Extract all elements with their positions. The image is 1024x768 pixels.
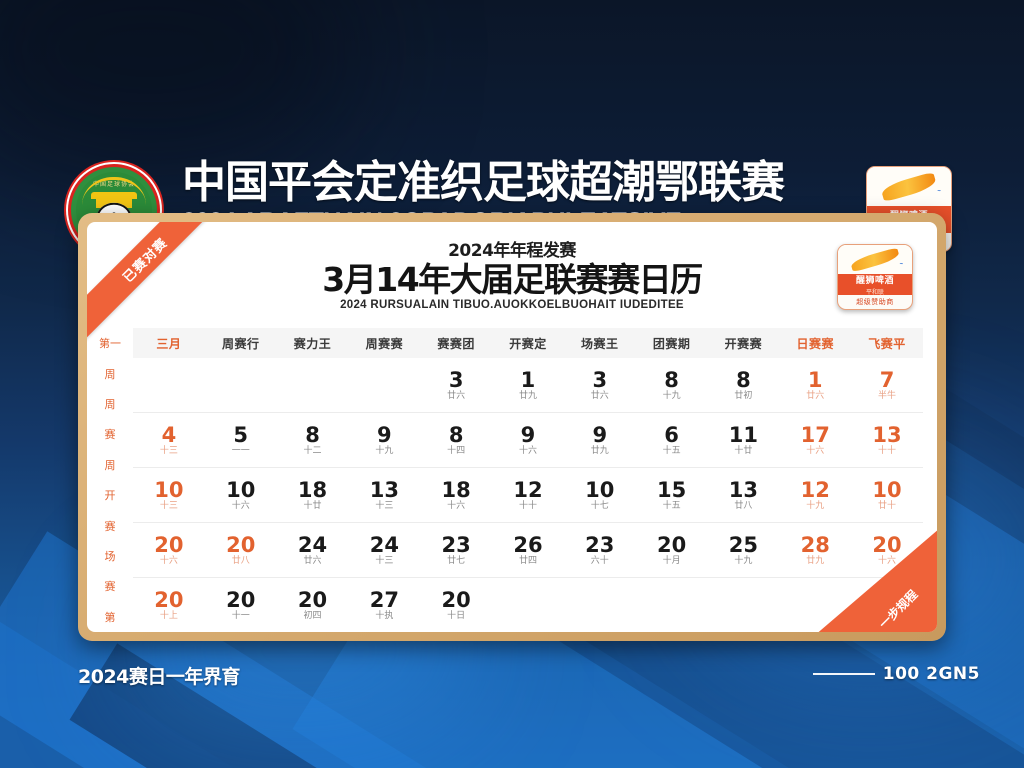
- calendar-day-cell[interactable]: 24廿六: [277, 535, 349, 566]
- day-number: 20: [154, 535, 183, 556]
- calendar-day-cell[interactable]: 5一一: [205, 425, 277, 456]
- row-label-column: 第一周周赛周开赛场赛第: [87, 328, 133, 632]
- day-number: 12: [801, 480, 830, 501]
- day-number: 10: [226, 480, 255, 501]
- row-label-7: 场: [105, 541, 116, 571]
- day-number: 1: [521, 370, 536, 391]
- pavilion-roof: [91, 192, 137, 199]
- lunar-label: 十廿: [304, 502, 322, 511]
- row-label-2: 周: [105, 389, 116, 419]
- lunar-label: 十九: [806, 502, 824, 511]
- calendar-day-cell[interactable]: 13十十: [851, 425, 923, 456]
- calendar-day-cell[interactable]: 10十三: [133, 480, 205, 511]
- lunar-label: 十六: [447, 502, 465, 511]
- ribbon-bottom-right: 一步规程: [809, 524, 937, 632]
- lunar-label: 十廿: [734, 447, 752, 456]
- day-number: 4: [162, 425, 177, 446]
- screenshot-root: 中国足球协会 CFU 中国平会定准织足球超潮鄂联赛 2024 ARAFTUAIN…: [0, 0, 1024, 768]
- day-number: 9: [377, 425, 392, 446]
- calendar-week-row: 20十上20十一20初四27十执20十日: [133, 577, 923, 632]
- weekday-header-10: 飞赛平: [851, 335, 923, 352]
- lunar-label: 廿初: [734, 392, 752, 401]
- lunar-label: 十六: [160, 557, 178, 566]
- lunar-label: 十五: [663, 502, 681, 511]
- footer-right: 100 2GN5: [813, 664, 980, 684]
- badge-blue-mark-card: ~: [900, 262, 904, 268]
- day-number: 20: [298, 590, 327, 611]
- lunar-label: 十十: [519, 502, 537, 511]
- day-number: 8: [305, 425, 320, 446]
- row-label-9: 第: [105, 602, 116, 632]
- lunar-label: 廿四: [519, 557, 537, 566]
- day-number: 20: [657, 535, 686, 556]
- calendar-day-cell[interactable]: 20十月: [636, 535, 708, 566]
- calendar-title-en: 2024 RURSUALAIN TIBUO.AUOKKOELBUOHAIT IU…: [87, 299, 937, 311]
- day-number: 18: [298, 480, 327, 501]
- lunar-label: 十三: [160, 502, 178, 511]
- day-number: 17: [801, 425, 830, 446]
- calendar-day-cell[interactable]: 25十九: [708, 535, 780, 566]
- calendar-day-cell[interactable]: 20十六: [133, 535, 205, 566]
- calendar-day-cell[interactable]: 15十五: [636, 480, 708, 511]
- row-label-6: 赛: [105, 510, 116, 540]
- calendar-day-cell[interactable]: 18十六: [420, 480, 492, 511]
- day-number: 6: [664, 425, 679, 446]
- weeks-container: 3廿六1廿九3廿六8十九8廿初1廿六7半牛4十三5一一8十二9十九8十四9十六9…: [133, 358, 923, 632]
- calendar-day-cell[interactable]: 8十二: [277, 425, 349, 456]
- row-label-3: 赛: [105, 419, 116, 449]
- day-number: 25: [729, 535, 758, 556]
- lunar-label: 十上: [160, 612, 178, 621]
- calendar-week-row: 10十三10十六18十廿13十三18十六12十十10十七15十五13廿八12十九…: [133, 467, 923, 522]
- lunar-label: 十执: [375, 612, 393, 621]
- day-number: 23: [585, 535, 614, 556]
- lunar-label: 十月: [663, 557, 681, 566]
- lunar-label: 十日: [447, 612, 465, 621]
- day-number: 13: [872, 425, 901, 446]
- lunar-label: 十六: [806, 447, 824, 456]
- calendar-day-cell[interactable]: 7半牛: [851, 370, 923, 401]
- footer-rule: [813, 673, 875, 675]
- lunar-label: 廿七: [447, 557, 465, 566]
- calendar-day-cell[interactable]: 23廿七: [420, 535, 492, 566]
- lunar-label: 十九: [663, 392, 681, 401]
- day-number: 15: [657, 480, 686, 501]
- day-number: 24: [370, 535, 399, 556]
- calendar-day-cell[interactable]: 20初四: [277, 590, 349, 621]
- calendar-week-row: 20十六20廿八24廿六24十三23廿七26廿四23六十20十月25十九28廿九…: [133, 522, 923, 577]
- lunar-label: 廿六: [591, 392, 609, 401]
- day-number: 1: [808, 370, 823, 391]
- badge-blue-mark: ~: [937, 189, 941, 195]
- weekday-header-0: 三月: [133, 335, 205, 352]
- calendar-day-cell[interactable]: 10廿十: [851, 480, 923, 511]
- calendar-day-cell[interactable]: 13廿八: [708, 480, 780, 511]
- calendar-day-cell[interactable]: 23六十: [564, 535, 636, 566]
- badge-band-card: 醒狮啤酒 平和联: [838, 274, 912, 294]
- lunar-label: 初四: [304, 612, 322, 621]
- day-number: 10: [154, 480, 183, 501]
- lunar-label: 十六: [519, 447, 537, 456]
- lunar-label: 廿八: [734, 502, 752, 511]
- calendar-day-cell[interactable]: 12十十: [492, 480, 564, 511]
- day-number: 27: [370, 590, 399, 611]
- lunar-label: 十一: [232, 612, 250, 621]
- calendar-day-cell[interactable]: 9十九: [348, 425, 420, 456]
- weekday-header-4: 赛赛团: [420, 335, 492, 352]
- calendar-day-cell[interactable]: 8十九: [636, 370, 708, 401]
- calendar-day-cell[interactable]: 18十廿: [277, 480, 349, 511]
- calendar-day-cell[interactable]: 24十三: [348, 535, 420, 566]
- calendar-day-cell[interactable]: 8十四: [420, 425, 492, 456]
- badge-graphic-card: ~: [838, 245, 912, 274]
- page-title: 中国平会定准织足球超潮鄂联赛: [182, 160, 842, 206]
- lunar-label: 廿六: [447, 392, 465, 401]
- day-number: 18: [442, 480, 471, 501]
- lunar-label: 十二: [304, 447, 322, 456]
- calendar-day-cell[interactable]: 26廿四: [492, 535, 564, 566]
- calendar-day-cell[interactable]: 20十上: [133, 590, 205, 621]
- calendar-day-cell[interactable]: 27十执: [348, 590, 420, 621]
- calendar-week-row: 4十三5一一8十二9十九8十四9十六9廿九6十五11十廿17十六13十十: [133, 412, 923, 467]
- lunar-label: 一一: [232, 447, 250, 456]
- calendar-title-small: 2024年年程发赛: [87, 236, 937, 261]
- day-number: 9: [521, 425, 536, 446]
- weekday-header-8: 开赛赛: [708, 335, 780, 352]
- calendar-day-cell[interactable]: 17十六: [779, 425, 851, 456]
- badge-graphic: ~: [867, 167, 951, 206]
- calendar-day-cell[interactable]: 9廿九: [564, 425, 636, 456]
- calendar-day-cell[interactable]: 4十三: [133, 425, 205, 456]
- day-number: 20: [226, 590, 255, 611]
- day-number: 8: [736, 370, 751, 391]
- weekday-header-2: 赛力王: [277, 335, 349, 352]
- calendar-day-cell[interactable]: 10十六: [205, 480, 277, 511]
- day-number: 20: [154, 590, 183, 611]
- lunar-label: 十六: [232, 502, 250, 511]
- day-number: 10: [872, 480, 901, 501]
- wheat-icon: [880, 172, 938, 203]
- lunar-label: 廿六: [806, 392, 824, 401]
- lunar-label: 十三: [375, 502, 393, 511]
- row-label-8: 赛: [105, 571, 116, 601]
- sponsor-badge-card[interactable]: ~ 醒狮啤酒 平和联 超级赞助商: [837, 244, 913, 310]
- day-number: 7: [880, 370, 895, 391]
- lunar-label: 十三: [160, 447, 178, 456]
- footer-left-text: 2024赛日一年界育: [78, 662, 240, 689]
- lunar-label: 十九: [375, 447, 393, 456]
- row-label-0: 第一: [99, 328, 121, 358]
- lunar-label: 十九: [734, 557, 752, 566]
- day-number: 12: [513, 480, 542, 501]
- day-number: 20: [442, 590, 471, 611]
- day-number: 11: [729, 425, 758, 446]
- day-number: 9: [592, 425, 607, 446]
- lunar-label: 十七: [591, 502, 609, 511]
- calendar-week-row: 3廿六1廿九3廿六8十九8廿初1廿六7半牛: [133, 358, 923, 412]
- calendar-day-cell[interactable]: 11十廿: [708, 425, 780, 456]
- lunar-label: 廿六: [304, 557, 322, 566]
- badge-foot-card: 超级赞助商: [838, 295, 912, 309]
- day-number: 24: [298, 535, 327, 556]
- calendar-day-cell[interactable]: 12十九: [779, 480, 851, 511]
- calendar-day-cell[interactable]: 20十日: [420, 590, 492, 621]
- calendar-title-large: 3月14年大届足联赛赛日历: [87, 262, 937, 298]
- lunar-label: 六十: [591, 557, 609, 566]
- calendar-day-cell[interactable]: 6十五: [636, 425, 708, 456]
- row-label-1: 周: [105, 358, 116, 388]
- lunar-label: 十四: [447, 447, 465, 456]
- weekday-header-7: 团赛期: [636, 335, 708, 352]
- weekday-header-1: 周赛行: [205, 335, 277, 352]
- day-number: 26: [513, 535, 542, 556]
- lunar-label: 十五: [663, 447, 681, 456]
- lunar-label: 廿八: [232, 557, 250, 566]
- lunar-label: 廿九: [519, 392, 537, 401]
- calendar-day-cell[interactable]: 1廿六: [779, 370, 851, 401]
- weekday-header-6: 场赛王: [564, 335, 636, 352]
- calendar-title-block: 2024年年程发赛 3月14年大届足联赛赛日历 2024 RURSUALAIN …: [87, 236, 937, 311]
- weekday-header-3: 周赛赛: [348, 335, 420, 352]
- calendar-day-cell[interactable]: 13十三: [348, 480, 420, 511]
- calendar-day-cell[interactable]: 20十一: [205, 590, 277, 621]
- weekday-header-5: 开赛定: [492, 335, 564, 352]
- lunar-label: 廿十: [878, 502, 896, 511]
- lunar-label: 十三: [375, 557, 393, 566]
- calendar-day-cell[interactable]: 1廿九: [492, 370, 564, 401]
- calendar-day-cell[interactable]: 10十七: [564, 480, 636, 511]
- day-number: 13: [729, 480, 758, 501]
- badge-band-card-line1: 醒狮啤酒: [856, 273, 894, 286]
- day-number: 5: [233, 425, 248, 446]
- calendar-day-cell[interactable]: 3廿六: [564, 370, 636, 401]
- day-number: 10: [585, 480, 614, 501]
- weekday-header-9: 日赛赛: [779, 335, 851, 352]
- lunar-label: 十十: [878, 447, 896, 456]
- card-body: 已赛对赛 2024年年程发赛 3月14年大届足联赛赛日历 2024 RURSUA…: [87, 222, 937, 632]
- weekday-header-row: 三月周赛行赛力王周赛赛赛赛团开赛定场赛王团赛期开赛赛日赛赛飞赛平: [133, 328, 923, 358]
- day-number: 23: [442, 535, 471, 556]
- row-label-5: 开: [105, 480, 116, 510]
- day-number: 3: [449, 370, 464, 391]
- badge-band-card-line2: 平和联: [866, 287, 884, 296]
- day-number: 13: [370, 480, 399, 501]
- day-number: 8: [664, 370, 679, 391]
- lunar-label: 廿九: [591, 447, 609, 456]
- day-number: 3: [592, 370, 607, 391]
- footer-right-text: 100 2GN5: [883, 664, 980, 684]
- page-header: 中国足球协会 CFU 中国平会定准织足球超潮鄂联赛 2024 ARAFTUAIN…: [0, 72, 1024, 192]
- lunar-label: 半牛: [878, 392, 896, 401]
- day-number: 8: [449, 425, 464, 446]
- calendar-card: 已赛对赛 2024年年程发赛 3月14年大届足联赛赛日历 2024 RURSUA…: [78, 213, 946, 641]
- calendar-day-cell[interactable]: 9十六: [492, 425, 564, 456]
- calendar-day-cell[interactable]: 8廿初: [708, 370, 780, 401]
- wheat-icon-card: [850, 248, 900, 273]
- ribbon-triangle: [809, 524, 937, 632]
- calendar-day-cell[interactable]: 20廿八: [205, 535, 277, 566]
- row-label-4: 周: [105, 450, 116, 480]
- day-number: 20: [226, 535, 255, 556]
- calendar-day-cell[interactable]: 3廿六: [420, 370, 492, 401]
